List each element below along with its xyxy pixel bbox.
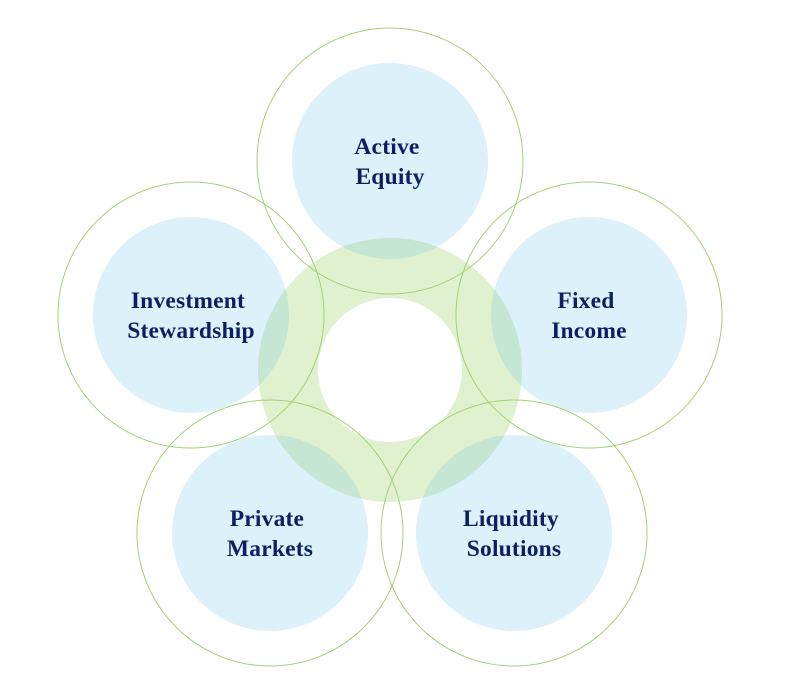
petal-label-line: Markets <box>227 536 313 562</box>
petal-label-line: Income <box>551 318 627 344</box>
hub-overlap-fixed-income <box>491 217 687 413</box>
petal-label-line: Stewardship <box>127 318 255 344</box>
petal-label-line: Private <box>230 506 304 532</box>
petal-label-line: Equity <box>355 164 424 190</box>
petal-venn-diagram: Active Equity Fixed Income Liquidity Sol… <box>0 0 799 679</box>
hub-overlap-private-markets <box>172 435 368 631</box>
petal-label-line: Investment <box>131 288 245 314</box>
hub-overlap-investment-stewardship <box>93 217 289 413</box>
petal-label-line: Solutions <box>467 536 562 562</box>
petal-label-line: Active <box>354 134 419 160</box>
hub-overlap-liquidity-solutions <box>416 435 612 631</box>
petal-label-line: Fixed <box>557 288 614 314</box>
petal-label-line: Liquidity <box>463 506 559 532</box>
diagram-root: Active Equity Fixed Income Liquidity Sol… <box>0 0 799 679</box>
hub-overlap-active-equity <box>292 63 488 259</box>
